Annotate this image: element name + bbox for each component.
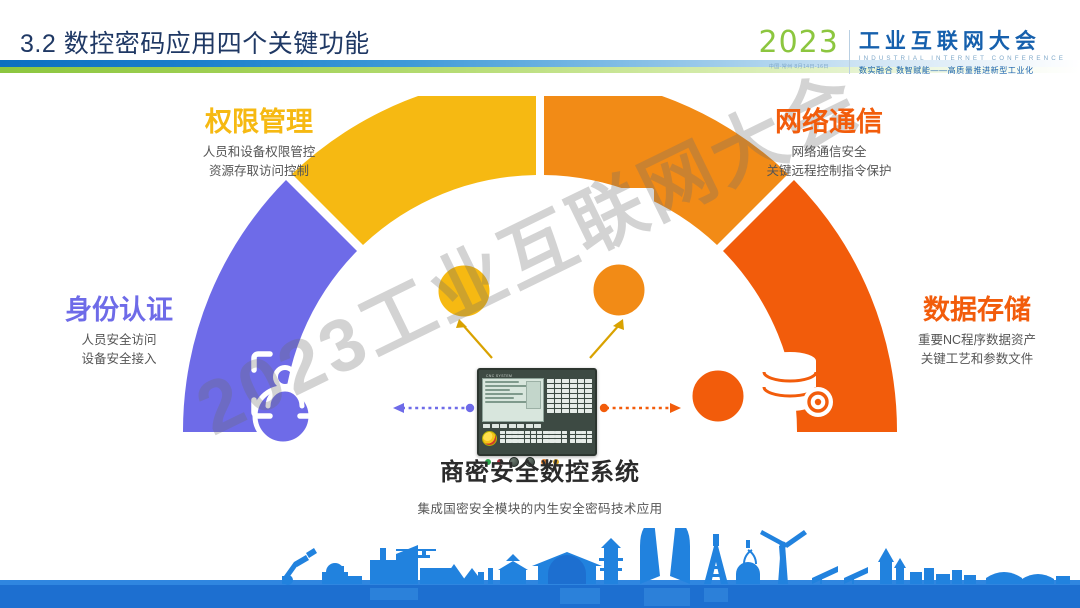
cnc-key[interactable] xyxy=(562,394,569,398)
cnc-softkey[interactable] xyxy=(483,424,490,428)
cnc-key[interactable] xyxy=(555,435,560,439)
cnc-key[interactable] xyxy=(549,435,554,439)
cnc-key[interactable] xyxy=(570,435,575,439)
logo-year-block: 2023 中国·常州 8月14日-16日 xyxy=(759,28,849,70)
cnc-key[interactable] xyxy=(525,431,530,435)
cnc-key[interactable] xyxy=(549,431,554,435)
cnc-key[interactable] xyxy=(512,439,517,443)
node-label-identity: 身份认证 人员安全访问 设备安全接入 xyxy=(28,294,210,369)
database-icon xyxy=(758,346,836,424)
cnc-key[interactable] xyxy=(570,399,577,403)
network-laptop-icon xyxy=(598,184,676,270)
cnc-key[interactable] xyxy=(547,389,554,393)
cnc-key[interactable] xyxy=(562,384,569,388)
cnc-key[interactable] xyxy=(581,439,586,443)
node-desc-network-line1: 网络通信安全 xyxy=(716,143,942,162)
node-desc-identity-line2: 设备安全接入 xyxy=(28,350,210,369)
arrow-right-dotted xyxy=(600,403,681,413)
emergency-stop-button[interactable] xyxy=(482,431,497,446)
node-label-permission: 权限管理 人员和设备权限管控 资源存取访问控制 xyxy=(154,106,364,181)
cnc-upper-section xyxy=(482,378,592,422)
cnc-key[interactable] xyxy=(585,404,592,408)
node-label-network: 网络通信 网络通信安全 关键远程控制指令保护 xyxy=(716,106,942,181)
center-title: 商密安全数控系统 xyxy=(340,452,740,487)
arrow-to-network-dot xyxy=(590,319,624,358)
node-title-identity: 身份认证 xyxy=(28,294,210,326)
logo-divider xyxy=(849,30,850,74)
cnc-key[interactable] xyxy=(562,435,567,439)
cnc-key[interactable] xyxy=(518,431,523,435)
cnc-screen-line xyxy=(485,389,510,391)
logo-year-subtext: 中国·常州 8月14日-16日 xyxy=(759,63,839,70)
cnc-key[interactable] xyxy=(525,439,530,443)
cnc-key[interactable] xyxy=(562,404,569,408)
cnc-key[interactable] xyxy=(518,435,523,439)
cnc-key[interactable] xyxy=(555,379,562,383)
cnc-softkey[interactable] xyxy=(534,424,541,428)
cnc-key[interactable] xyxy=(570,384,577,388)
slide-canvas: 3.2 数控密码应用四个关键功能 2023 中国·常州 8月14日-16日 工业… xyxy=(0,0,1080,608)
cnc-key[interactable] xyxy=(562,431,567,435)
logo-slogan: 数实融合 数智赋能——高质量推进新型工业化 xyxy=(859,65,1066,76)
connector-dot-storage[interactable] xyxy=(690,368,746,424)
cnc-key[interactable] xyxy=(581,435,586,439)
cnc-key[interactable] xyxy=(570,379,577,383)
node-title-permission: 权限管理 xyxy=(154,106,364,138)
cnc-key[interactable] xyxy=(537,439,542,443)
cnc-key[interactable] xyxy=(500,435,505,439)
cnc-key[interactable] xyxy=(562,409,569,413)
cnc-key[interactable] xyxy=(537,431,542,435)
cnc-key[interactable] xyxy=(578,384,585,388)
cnc-right-keygrid[interactable] xyxy=(547,378,592,422)
cnc-key[interactable] xyxy=(543,435,548,439)
cnc-key[interactable] xyxy=(512,431,517,435)
face-scan-icon xyxy=(248,348,322,422)
cnc-softkey[interactable] xyxy=(500,424,507,428)
cnc-key[interactable] xyxy=(578,394,585,398)
cnc-key[interactable] xyxy=(578,379,585,383)
cnc-key[interactable] xyxy=(506,439,511,443)
cnc-key[interactable] xyxy=(581,431,586,435)
cnc-screen-line xyxy=(485,393,523,395)
connector-dot-permission[interactable] xyxy=(436,263,492,319)
cnc-key[interactable] xyxy=(578,389,585,393)
cnc-key[interactable] xyxy=(543,431,548,435)
cnc-screen xyxy=(482,378,544,422)
node-label-storage: 数据存储 重要NC程序数据资产 关键工艺和参数文件 xyxy=(872,294,1080,369)
city-skyline-footer xyxy=(0,528,1080,608)
arrow-to-permission-dot xyxy=(456,319,492,358)
cnc-softkey[interactable] xyxy=(492,424,499,428)
cnc-key[interactable] xyxy=(531,431,536,435)
cnc-key[interactable] xyxy=(543,439,548,443)
cnc-key[interactable] xyxy=(547,399,554,403)
cnc-key[interactable] xyxy=(578,404,585,408)
cnc-key[interactable] xyxy=(585,399,592,403)
cnc-key[interactable] xyxy=(585,384,592,388)
cnc-key[interactable] xyxy=(562,439,567,443)
cnc-key[interactable] xyxy=(585,379,592,383)
logo-name-en: INDUSTRIAL INTERNET CONFERENCE xyxy=(859,55,1066,62)
cnc-key[interactable] xyxy=(512,435,517,439)
cnc-key[interactable] xyxy=(547,394,554,398)
cnc-key[interactable] xyxy=(570,404,577,408)
cnc-softkey[interactable] xyxy=(526,424,533,428)
cnc-screen-line xyxy=(485,385,529,387)
cnc-key[interactable] xyxy=(547,384,554,388)
node-desc-identity-line1: 人员安全访问 xyxy=(28,331,210,350)
node-desc-network-line2: 关键远程控制指令保护 xyxy=(716,162,942,181)
cnc-key[interactable] xyxy=(555,384,562,388)
skyline-silhouette xyxy=(282,528,1070,585)
cnc-key[interactable] xyxy=(500,439,505,443)
horseshoe-diagram: 2023工业互联网大会 权限管理 人员和设备权限管控 资源存取访问控制 网络通信… xyxy=(0,96,1080,536)
node-desc-storage-line2: 关键工艺和参数文件 xyxy=(872,350,1080,369)
cnc-key[interactable] xyxy=(570,431,575,435)
cnc-key[interactable] xyxy=(547,379,554,383)
cnc-key[interactable] xyxy=(547,409,554,413)
cnc-key[interactable] xyxy=(585,394,592,398)
cnc-key[interactable] xyxy=(562,399,569,403)
lock-icon xyxy=(496,192,562,266)
node-desc-permission-line2: 资源存取访问控制 xyxy=(154,162,364,181)
cnc-key[interactable] xyxy=(537,435,542,439)
cnc-screen-sidepanel xyxy=(526,381,541,409)
cnc-key[interactable] xyxy=(576,431,581,435)
node-title-network: 网络通信 xyxy=(716,106,942,138)
cnc-key[interactable] xyxy=(576,439,581,443)
node-title-storage: 数据存储 xyxy=(872,294,1080,326)
cnc-key[interactable] xyxy=(555,399,562,403)
cnc-key[interactable] xyxy=(585,389,592,393)
cnc-key[interactable] xyxy=(549,439,554,443)
cnc-softkey-row[interactable] xyxy=(483,424,592,428)
node-desc-permission-line1: 人员和设备权限管控 xyxy=(154,143,364,162)
cnc-key[interactable] xyxy=(587,431,592,435)
conference-logo: 2023 中国·常州 8月14日-16日 工业互联网大会 INDUSTRIAL … xyxy=(759,28,1067,84)
cnc-key[interactable] xyxy=(555,439,560,443)
cnc-key[interactable] xyxy=(547,404,554,408)
cnc-key[interactable] xyxy=(555,404,562,408)
cnc-key[interactable] xyxy=(555,394,562,398)
center-desc: 集成国密安全模块的内生安全密码技术应用 xyxy=(340,498,740,517)
cnc-key[interactable] xyxy=(555,409,562,413)
cnc-control-panel[interactable]: CNC SYSTEM xyxy=(477,368,597,456)
page-title: 3.2 数控密码应用四个关键功能 xyxy=(20,24,370,60)
cnc-key[interactable] xyxy=(555,389,562,393)
cnc-key[interactable] xyxy=(570,389,577,393)
cnc-screen-line xyxy=(485,381,519,383)
center-caption: 商密安全数控系统 集成国密安全模块的内生安全密码技术应用 xyxy=(340,452,740,517)
cnc-key[interactable] xyxy=(525,435,530,439)
arrow-left-dotted xyxy=(393,403,474,413)
logo-name-cn: 工业互联网大会 xyxy=(859,30,1066,53)
cnc-key[interactable] xyxy=(506,431,511,435)
cnc-softkey[interactable] xyxy=(509,424,516,428)
cnc-key[interactable] xyxy=(531,439,536,443)
cnc-key[interactable] xyxy=(562,379,569,383)
connector-dot-network[interactable] xyxy=(591,262,647,318)
cnc-softkey[interactable] xyxy=(517,424,524,428)
cnc-key[interactable] xyxy=(531,435,536,439)
cnc-key[interactable] xyxy=(518,439,523,443)
cnc-key[interactable] xyxy=(587,439,592,443)
cnc-brand-label: CNC SYSTEM xyxy=(486,374,512,378)
cnc-key[interactable] xyxy=(587,435,592,439)
cnc-key[interactable] xyxy=(500,431,505,435)
cnc-key[interactable] xyxy=(570,394,577,398)
node-desc-storage-line1: 重要NC程序数据资产 xyxy=(872,331,1080,350)
cnc-screen-line xyxy=(485,397,514,399)
skyline-water xyxy=(0,584,1080,608)
cnc-key[interactable] xyxy=(570,439,575,443)
logo-year: 2023 xyxy=(759,28,839,58)
cnc-key[interactable] xyxy=(570,409,577,413)
cnc-key[interactable] xyxy=(576,435,581,439)
cnc-key[interactable] xyxy=(555,431,560,435)
cnc-key[interactable] xyxy=(585,409,592,413)
cnc-key[interactable] xyxy=(506,435,511,439)
cnc-key[interactable] xyxy=(578,409,585,413)
cnc-screen-line xyxy=(485,401,529,403)
logo-text-block: 工业互联网大会 INDUSTRIAL INTERNET CONFERENCE 数… xyxy=(859,28,1066,76)
cnc-key[interactable] xyxy=(562,389,569,393)
cnc-key[interactable] xyxy=(578,399,585,403)
